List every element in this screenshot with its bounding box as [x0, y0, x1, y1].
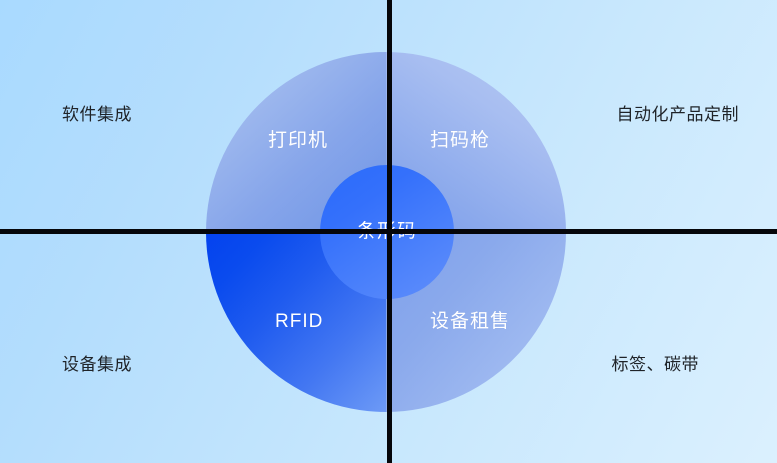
- quadrant-label-bottom-right: 标签、碳带: [612, 356, 700, 373]
- quadrant-label-top-right: 自动化产品定制: [617, 106, 740, 123]
- diagram-canvas: 软件集成 自动化产品定制 设备集成 标签、碳带 打印机 扫码枪 RFID 设备租…: [0, 0, 777, 463]
- segment-label-top-right: 扫码枪: [430, 131, 490, 150]
- segment-label-bottom-right: 设备租售: [430, 312, 510, 331]
- axis-line-horizontal: [0, 229, 777, 234]
- quadrant-label-bottom-left: 设备集成: [62, 356, 132, 373]
- segment-label-bottom-left: RFID: [275, 312, 323, 331]
- quadrant-label-top-left: 软件集成: [62, 106, 132, 123]
- segment-label-top-left: 打印机: [268, 131, 328, 150]
